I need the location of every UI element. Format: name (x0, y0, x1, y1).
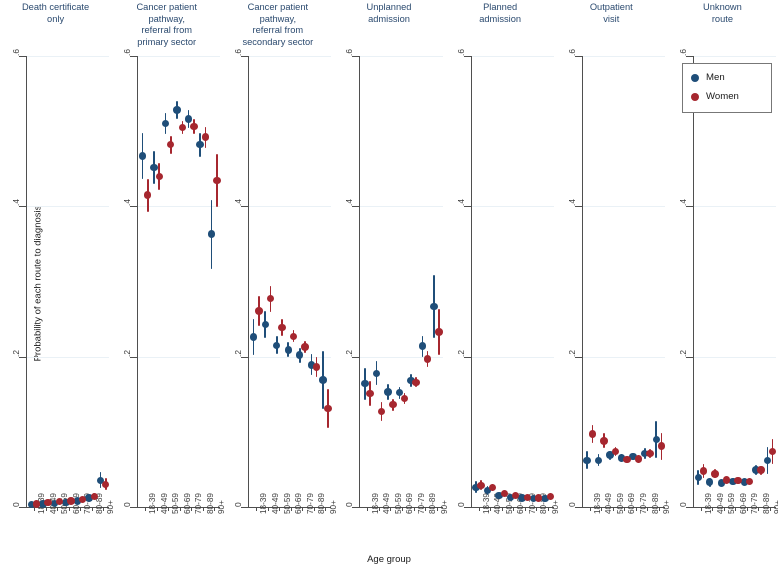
data-point[interactable] (179, 124, 186, 131)
data-point[interactable] (373, 370, 380, 377)
x-tick (214, 507, 215, 511)
data-point[interactable] (156, 173, 163, 180)
y-tick (352, 56, 359, 57)
y-tick (130, 206, 137, 207)
x-tick (701, 507, 702, 511)
x-tick (647, 507, 648, 511)
y-tick (241, 206, 248, 207)
x-tick (525, 507, 526, 511)
data-point[interactable] (623, 456, 630, 463)
panel-title: Outpatient visit (556, 2, 667, 25)
data-point[interactable] (764, 457, 771, 464)
x-tick (735, 507, 736, 511)
x-tick (302, 507, 303, 511)
data-point[interactable] (185, 115, 192, 122)
y-tick (352, 507, 359, 508)
data-point[interactable] (202, 133, 209, 140)
x-tick (724, 507, 725, 511)
x-tick (479, 507, 480, 511)
data-point[interactable] (424, 355, 431, 362)
x-tick (268, 507, 269, 511)
gridline (694, 357, 776, 358)
data-point[interactable] (319, 376, 326, 383)
gridline (27, 56, 109, 57)
x-tick (437, 507, 438, 511)
legend-label-men: Men (706, 72, 725, 83)
panel-5: Planned admission0.2.4.618-3940-4950-596… (445, 0, 556, 553)
chart-root: Probability of each route to diagnosis A… (0, 0, 778, 573)
x-tick (402, 507, 403, 511)
data-point[interactable] (366, 390, 373, 397)
y-tick (575, 56, 582, 57)
data-point[interactable] (384, 388, 391, 395)
data-point[interactable] (501, 490, 508, 497)
data-point[interactable] (389, 401, 396, 408)
x-tick (157, 507, 158, 511)
gridline (583, 357, 665, 358)
y-tick (464, 56, 471, 57)
data-point[interactable] (150, 164, 157, 171)
gridline (249, 56, 331, 57)
data-point[interactable] (711, 470, 718, 477)
y-tick (575, 206, 582, 207)
x-tick (168, 507, 169, 511)
x-tick (712, 507, 713, 511)
x-tick (103, 507, 104, 511)
data-point[interactable] (706, 478, 713, 485)
x-tick (490, 507, 491, 511)
legend-swatch-men (691, 74, 699, 82)
x-tick (379, 507, 380, 511)
data-point[interactable] (213, 177, 220, 184)
y-tick (686, 56, 693, 57)
x-tick (747, 507, 748, 511)
x-tick (613, 507, 614, 511)
x-tick (367, 507, 368, 511)
y-tick (130, 507, 137, 508)
data-point[interactable] (67, 497, 74, 504)
data-point[interactable] (102, 481, 109, 488)
gridline (472, 56, 554, 57)
data-point[interactable] (658, 442, 665, 449)
data-point[interactable] (167, 141, 174, 148)
gridline (583, 206, 665, 207)
data-point[interactable] (435, 328, 442, 335)
data-point[interactable] (313, 363, 320, 370)
data-point[interactable] (419, 342, 426, 349)
data-point[interactable] (746, 478, 753, 485)
data-point[interactable] (162, 120, 169, 127)
x-tick (325, 507, 326, 511)
data-point[interactable] (489, 484, 496, 491)
data-point[interactable] (190, 123, 197, 130)
data-point[interactable] (757, 466, 764, 473)
data-point[interactable] (301, 343, 308, 350)
data-point[interactable] (524, 494, 531, 501)
y-tick (464, 206, 471, 207)
y-tick (464, 507, 471, 508)
x-tick (536, 507, 537, 511)
data-point[interactable] (695, 474, 702, 481)
gridline (27, 206, 109, 207)
x-axis-title: Age group (0, 554, 778, 565)
gridline (694, 206, 776, 207)
y-tick (352, 206, 359, 207)
data-point[interactable] (769, 448, 776, 455)
gridline (27, 357, 109, 358)
data-point[interactable] (401, 395, 408, 402)
panel-title: Cancer patient pathway, referral from pr… (111, 2, 222, 48)
x-tick (513, 507, 514, 511)
gridline (138, 206, 220, 207)
x-tick (502, 507, 503, 511)
data-point[interactable] (44, 499, 51, 506)
data-point[interactable] (173, 106, 180, 113)
gridline (138, 357, 220, 358)
x-tick (314, 507, 315, 511)
x-tick (256, 507, 257, 511)
data-point[interactable] (196, 141, 203, 148)
x-tick-label: 90+ (773, 500, 778, 514)
x-tick (659, 507, 660, 511)
legend: Men Women (682, 63, 772, 113)
legend-swatch-women (691, 93, 699, 101)
data-point[interactable] (250, 333, 257, 340)
x-tick (758, 507, 759, 511)
data-point[interactable] (595, 457, 602, 464)
y-axis-line (693, 56, 694, 508)
x-tick (57, 507, 58, 511)
x-tick (203, 507, 204, 511)
data-point[interactable] (290, 333, 297, 340)
x-tick (80, 507, 81, 511)
data-point[interactable] (612, 448, 619, 455)
data-point[interactable] (273, 342, 280, 349)
legend-item-men[interactable]: Men (691, 72, 725, 83)
y-tick (241, 56, 248, 57)
data-point[interactable] (139, 152, 146, 159)
gridline (360, 56, 442, 57)
data-point[interactable] (33, 500, 40, 507)
panel-4: Unplanned admission0.2.4.618-3940-4950-5… (333, 0, 444, 553)
data-point[interactable] (646, 450, 653, 457)
x-tick (636, 507, 637, 511)
y-axis-line (582, 56, 583, 508)
data-point[interactable] (378, 408, 385, 415)
panel-1: Death certificate only0.2.4.618-3940-495… (0, 0, 111, 553)
y-tick (130, 56, 137, 57)
x-tick (191, 507, 192, 511)
y-axis-line (359, 56, 360, 508)
data-point[interactable] (430, 303, 437, 310)
gridline (249, 206, 331, 207)
data-point[interactable] (324, 405, 331, 412)
gridline (138, 56, 220, 57)
y-axis-line (248, 56, 249, 508)
x-tick (414, 507, 415, 511)
data-point[interactable] (412, 379, 419, 386)
y-tick (686, 507, 693, 508)
panel-title: Planned admission (445, 2, 556, 25)
y-tick (241, 507, 248, 508)
gridline (472, 357, 554, 358)
x-tick (291, 507, 292, 511)
panel-6: Outpatient visit0.2.4.618-3940-4950-5960… (556, 0, 667, 553)
data-point[interactable] (547, 493, 554, 500)
gridline (249, 357, 331, 358)
panel-title: Death certificate only (0, 2, 111, 25)
data-point[interactable] (700, 467, 707, 474)
data-point[interactable] (208, 230, 215, 237)
y-axis-line (471, 56, 472, 508)
data-point[interactable] (91, 493, 98, 500)
data-point[interactable] (583, 457, 590, 464)
x-tick (390, 507, 391, 511)
panel-2: Cancer patient pathway, referral from pr… (111, 0, 222, 553)
x-tick (548, 507, 549, 511)
legend-item-women[interactable]: Women (691, 91, 739, 102)
data-point[interactable] (361, 380, 368, 387)
y-tick (19, 56, 26, 57)
panel-title: Unplanned admission (333, 2, 444, 25)
y-axis-line (26, 56, 27, 508)
data-point[interactable] (477, 482, 484, 489)
data-point[interactable] (600, 437, 607, 444)
x-tick (145, 507, 146, 511)
gridline (472, 206, 554, 207)
data-point[interactable] (635, 455, 642, 462)
x-tick (46, 507, 47, 511)
x-tick (180, 507, 181, 511)
panel-title: Unknown route (667, 2, 778, 25)
gridline (694, 56, 776, 57)
data-point[interactable] (262, 321, 269, 328)
x-tick (92, 507, 93, 511)
data-point[interactable] (285, 346, 292, 353)
y-tick (19, 507, 26, 508)
x-tick (590, 507, 591, 511)
x-tick (69, 507, 70, 511)
y-tick (686, 206, 693, 207)
data-point[interactable] (278, 324, 285, 331)
data-point[interactable] (296, 351, 303, 358)
gridline (583, 56, 665, 57)
x-tick (425, 507, 426, 511)
gridline (360, 206, 442, 207)
panel-3: Cancer patient pathway, referral from se… (222, 0, 333, 553)
x-tick (770, 507, 771, 511)
panel-title: Cancer patient pathway, referral from se… (222, 2, 333, 48)
x-tick (279, 507, 280, 511)
data-point[interactable] (255, 307, 262, 314)
data-point[interactable] (589, 430, 596, 437)
data-point[interactable] (267, 295, 274, 302)
y-axis-line (137, 56, 138, 508)
x-tick (601, 507, 602, 511)
legend-label-women: Women (706, 91, 739, 102)
y-tick (575, 507, 582, 508)
y-tick (19, 206, 26, 207)
x-tick (624, 507, 625, 511)
data-point[interactable] (144, 191, 151, 198)
data-point[interactable] (734, 477, 741, 484)
data-point[interactable] (723, 476, 730, 483)
